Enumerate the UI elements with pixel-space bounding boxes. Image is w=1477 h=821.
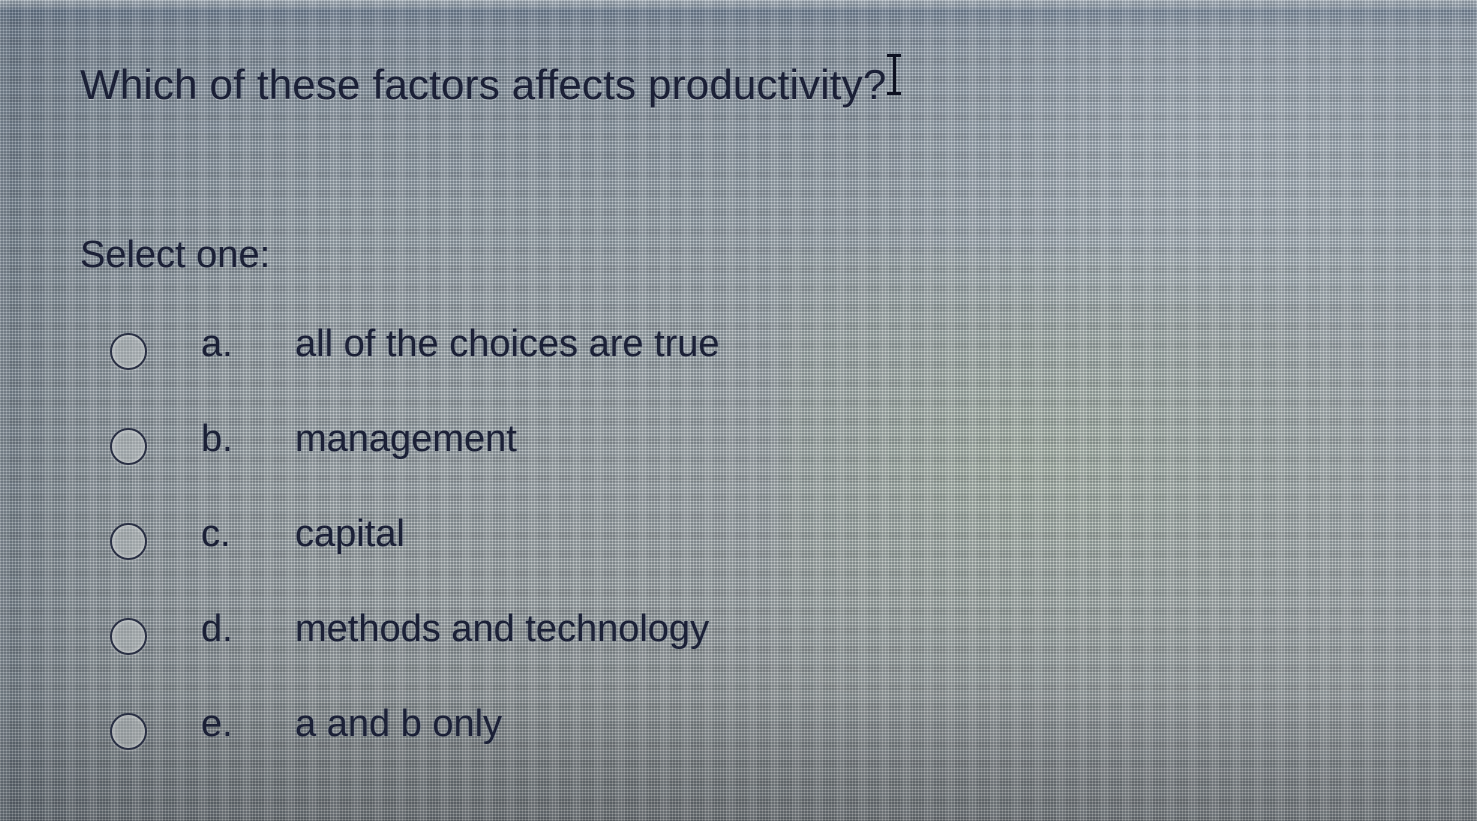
- answer-label[interactable]: a and b only: [295, 705, 1210, 743]
- answer-letter: d.: [201, 610, 295, 648]
- answer-label[interactable]: methods and technology: [295, 610, 1210, 648]
- answer-letter: c.: [201, 515, 295, 553]
- answer-letter: b.: [201, 420, 295, 458]
- answer-letter: a.: [201, 325, 295, 363]
- question-stem: Which of these factors affects productiv…: [80, 62, 886, 108]
- answer-letter: e.: [201, 705, 295, 743]
- answer-label[interactable]: capital: [295, 515, 1210, 553]
- answer-options-list: a. all of the choices are true b. manage…: [110, 325, 1210, 800]
- radio-button-icon[interactable]: [110, 713, 147, 750]
- text-ibeam-cursor-icon: [886, 52, 902, 98]
- answer-option-a[interactable]: a. all of the choices are true: [110, 325, 1210, 420]
- radio-button-icon[interactable]: [110, 618, 147, 655]
- monitor-photo: Which of these factors affects productiv…: [0, 0, 1477, 821]
- answer-option-d[interactable]: d. methods and technology: [110, 610, 1210, 705]
- answer-label[interactable]: management: [295, 420, 1210, 458]
- answer-option-e[interactable]: e. a and b only: [110, 705, 1210, 800]
- select-one-instruction: Select one:: [80, 234, 270, 277]
- answer-option-c[interactable]: c. capital: [110, 515, 1210, 610]
- ibeam-bottom-serif: [887, 92, 901, 95]
- answer-option-b[interactable]: b. management: [110, 420, 1210, 515]
- ibeam-stem: [893, 56, 896, 94]
- radio-button-icon[interactable]: [110, 333, 147, 370]
- quiz-question-content: Which of these factors affects productiv…: [0, 0, 1477, 821]
- radio-button-icon[interactable]: [110, 523, 147, 560]
- answer-label[interactable]: all of the choices are true: [295, 325, 1210, 363]
- radio-button-icon[interactable]: [110, 428, 147, 465]
